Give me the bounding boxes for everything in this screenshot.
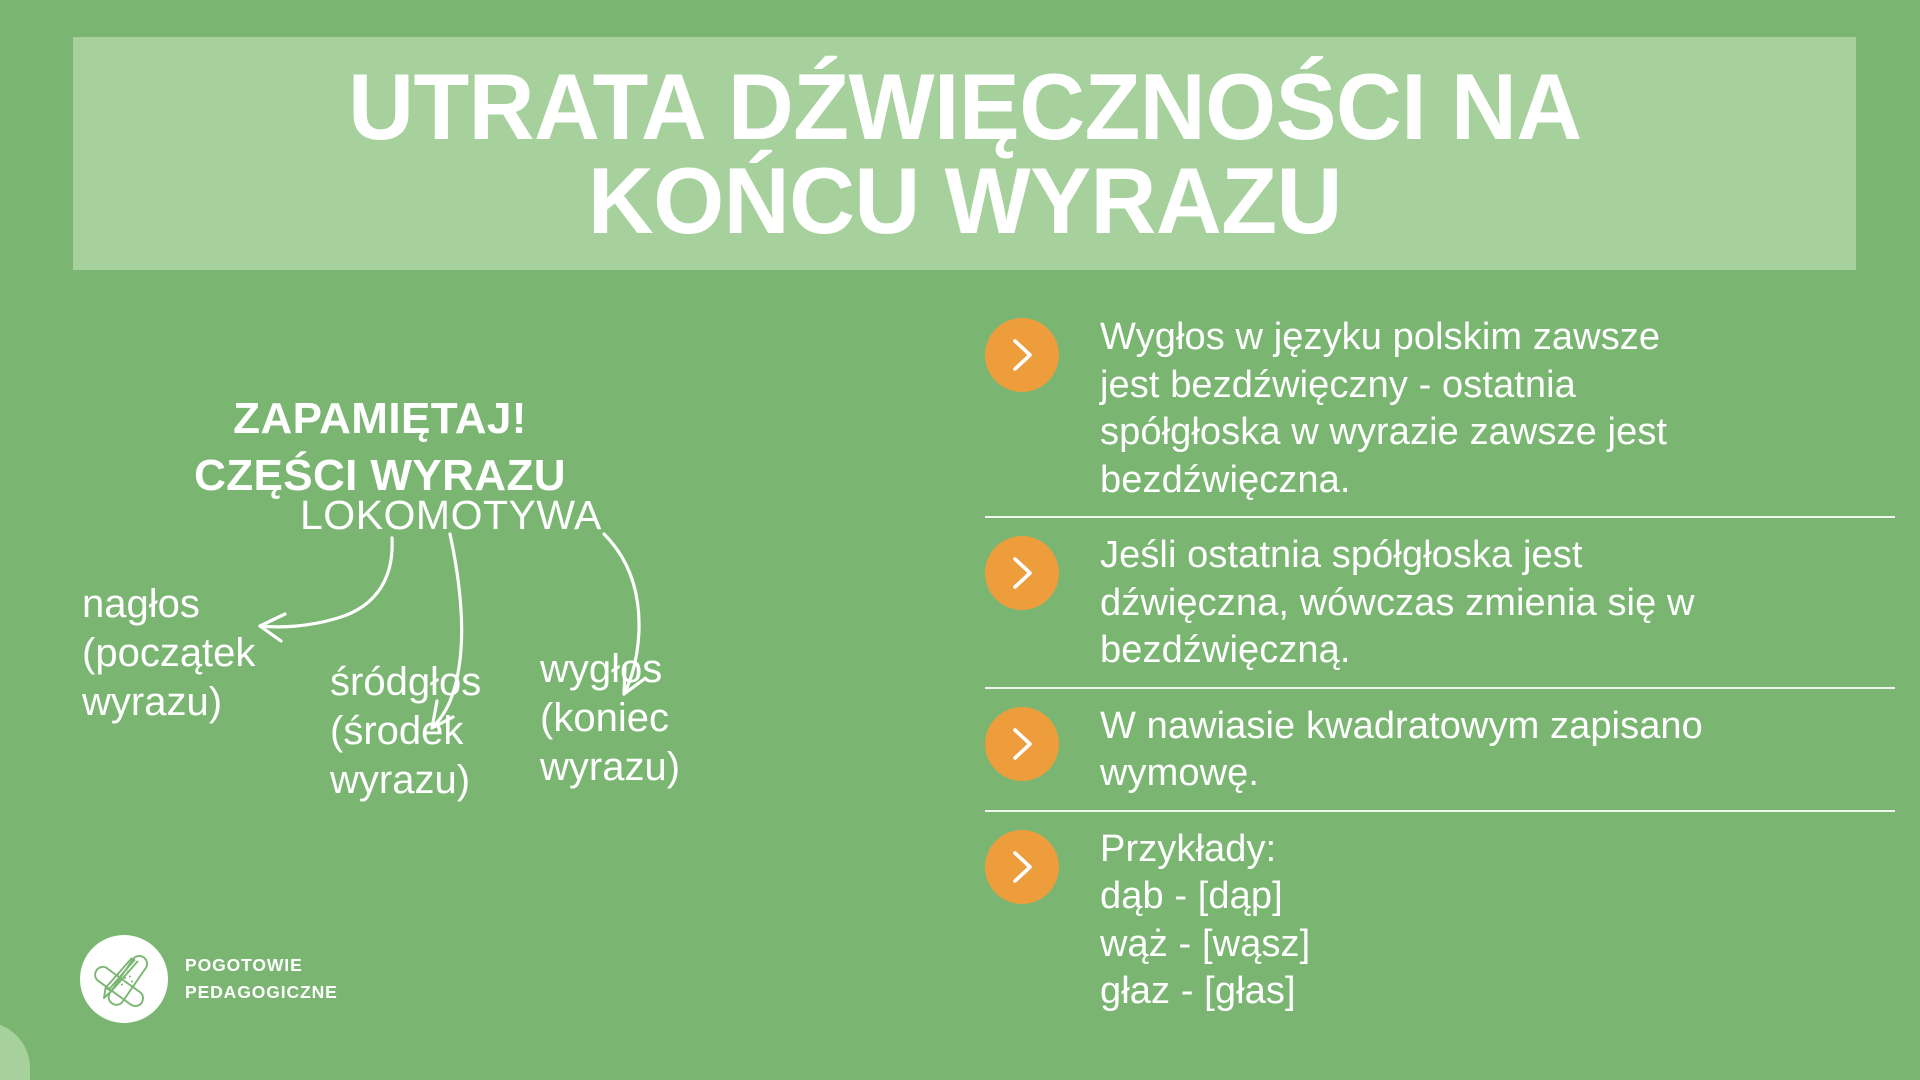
bullet-text: Wygłos w języku polskim zawsze jest bezd… — [1100, 312, 1667, 504]
logo-badge — [80, 935, 168, 1023]
bullet-list: Wygłos w języku polskim zawsze jest bezd… — [985, 300, 1895, 1028]
brand-logo: POGOTOWIE PEDAGOGICZNE — [80, 935, 338, 1023]
diagram-part-naglos: nagłos (początek wyrazu) — [82, 580, 255, 726]
chevron-right-icon — [985, 707, 1059, 781]
bullet-item: W nawiasie kwadratowym zapisano wymowę. — [985, 687, 1895, 810]
slide-root: UTRATA DŹWIĘCZNOŚCI NA KOŃCU WYRAZU ZAPA… — [0, 0, 1920, 1080]
bullet-text: Przykłady: dąb - [dąp] wąż - [wąsz] głaz… — [1100, 824, 1310, 1016]
bandage-pencil-icon — [93, 948, 155, 1010]
diagram-root-word: LOKOMOTYWA — [300, 490, 602, 540]
bullet-text: Jeśli ostatnia spółgłoska jest dźwięczna… — [1100, 530, 1695, 675]
title-banner: UTRATA DŹWIĘCZNOŚCI NA KOŃCU WYRAZU — [73, 37, 1856, 270]
bullet-text: W nawiasie kwadratowym zapisano wymowę. — [1100, 701, 1703, 798]
bullet-item: Wygłos w języku polskim zawsze jest bezd… — [985, 300, 1895, 516]
chevron-right-icon — [985, 536, 1059, 610]
diagram-part-srodglos: śródgłos (środek wyrazu) — [330, 658, 481, 804]
chevron-right-icon — [985, 830, 1059, 904]
page-title: UTRATA DŹWIĘCZNOŚCI NA KOŃCU WYRAZU — [328, 60, 1600, 246]
bullet-item: Jeśli ostatnia spółgłoska jest dźwięczna… — [985, 516, 1895, 687]
diagram-part-wyglos: wygłos (koniec wyrazu) — [540, 645, 680, 791]
logo-text: POGOTOWIE PEDAGOGICZNE — [185, 952, 338, 1006]
chevron-right-icon — [985, 318, 1059, 392]
bullet-item: Przykłady: dąb - [dąp] wąż - [wąsz] głaz… — [985, 810, 1895, 1028]
